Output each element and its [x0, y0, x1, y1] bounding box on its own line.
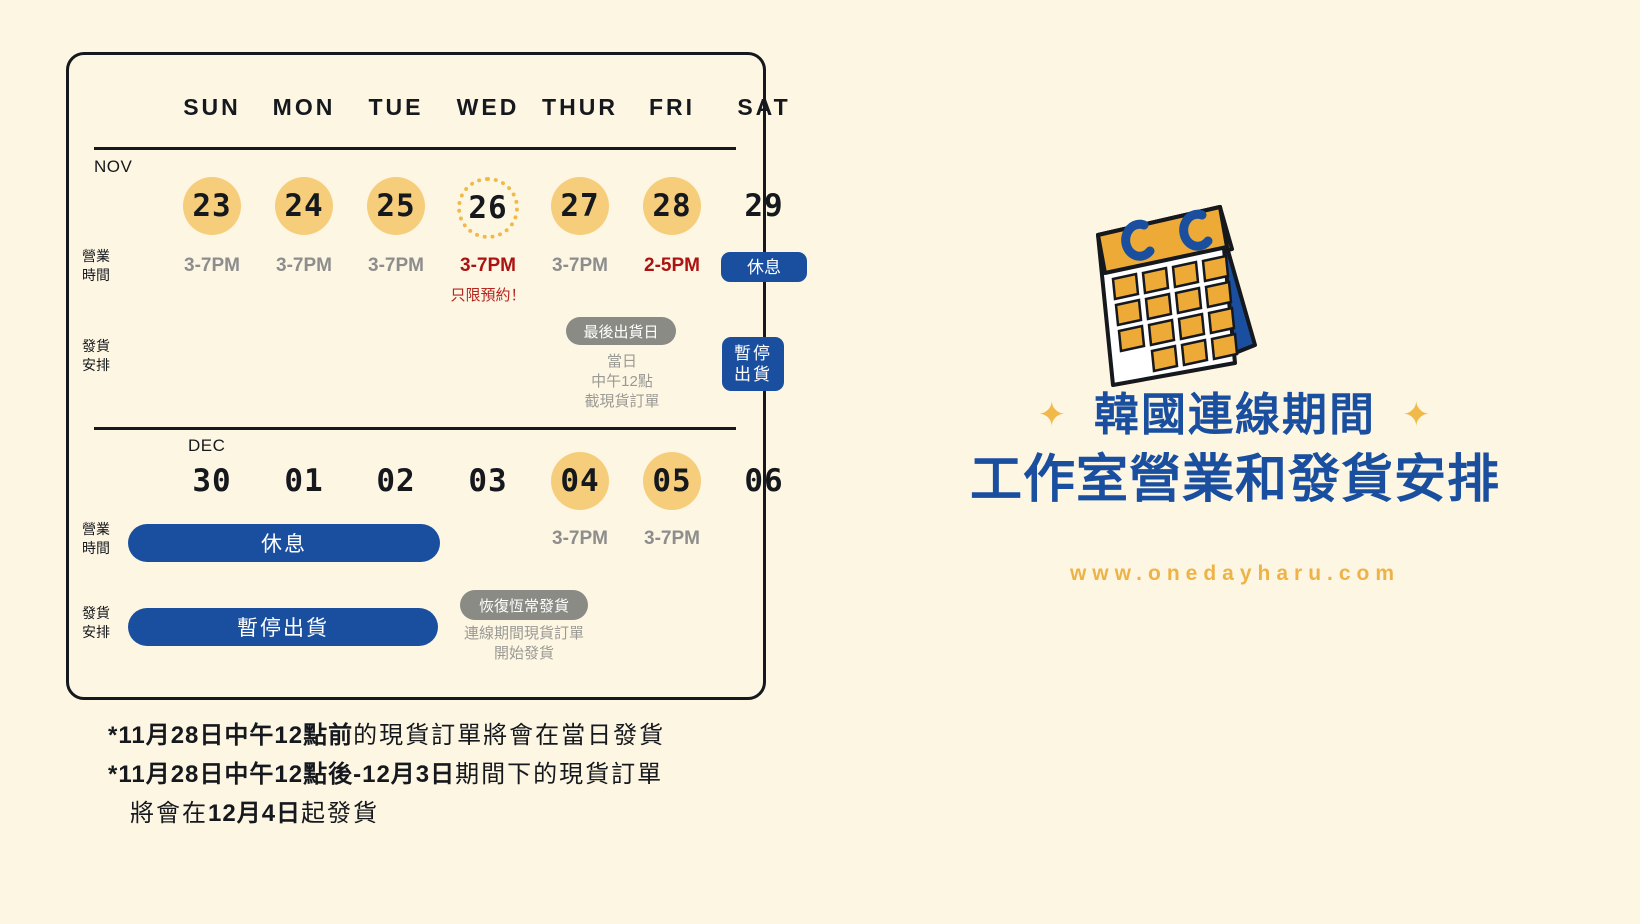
week-divider [94, 427, 736, 430]
bar-shipping-paused-nov30-dec03: 暫停出貨 [128, 608, 438, 646]
row-label-line2: 安排 [82, 623, 128, 642]
calendar-schedule: SUN MON TUE WED THUR FRI SAT NOV 23 24 2… [66, 52, 766, 700]
day-cell-nov-25: 25 [350, 177, 442, 235]
weekday-fri: FRI [626, 94, 718, 121]
badge-line2: 出貨 [734, 364, 772, 385]
day-number: 29 [735, 177, 793, 235]
weekday-sat: SAT [718, 94, 810, 121]
website-url[interactable]: www.onedayharu.com [830, 562, 1640, 586]
day-number: 25 [367, 177, 425, 235]
day-cell-nov-27: 27 [534, 177, 626, 235]
badge-shipping-resumed: 恢復恆常發貨 [460, 590, 588, 620]
note-line2: 中午12點 [552, 372, 692, 392]
hours-nov-28: 2-5PM [626, 255, 718, 277]
hours-nov-24: 3-7PM [258, 255, 350, 277]
day-cell-nov-23: 23 [166, 177, 258, 235]
day-number: 02 [367, 452, 425, 510]
footnote-1-rest: 的現貨訂單將會在當日發貨 [353, 722, 665, 749]
day-number: 23 [183, 177, 241, 235]
promo-title-line1: 韓國連線期間 [1094, 385, 1376, 445]
weekday-wed: WED [442, 94, 534, 121]
bar-closed-nov30-dec03: 休息 [128, 524, 440, 562]
note-shipping-resume-detail: 連線期間現貨訂單 開始發貨 [444, 624, 604, 664]
desk-calendar-icon [1080, 195, 1260, 385]
month-label-nov: NOV [94, 157, 132, 177]
day-number: 30 [183, 452, 241, 510]
day-cell-dec-02: 02 [350, 452, 442, 510]
badge-last-shipping-day: 最後出貨日 [566, 317, 676, 345]
row-label-shipping-w2: 發貨 安排 [82, 604, 128, 642]
note-line2: 開始發貨 [444, 644, 604, 664]
promo-title-line1-row: ✦ 韓國連線期間 ✦ [830, 385, 1640, 445]
footnote-line-1: *11月28日中午12點前的現貨訂單將會在當日發貨 [108, 716, 808, 755]
row-label-line1: 營業 [82, 247, 128, 266]
weekday-tue: TUE [350, 94, 442, 121]
day-cell-nov-30: 30 [166, 452, 258, 510]
day-number: 05 [643, 452, 701, 510]
day-cell-dec-04: 04 [534, 452, 626, 510]
hours-dec-05: 3-7PM [626, 528, 718, 550]
footnote-2-rest: 期間下的現貨訂單 [455, 761, 663, 788]
promo-panel: ✦ 韓國連線期間 ✦ 工作室營業和發貨安排 www.onedayharu.com [830, 0, 1640, 924]
header-divider [94, 147, 736, 150]
footnote-3-rest: 起發貨 [301, 800, 379, 827]
weekday-mon: MON [258, 94, 350, 121]
hours-nov-23: 3-7PM [166, 255, 258, 277]
footnote-1-bold: *11月28日中午12點前 [108, 722, 353, 749]
row-label-line1: 營業 [82, 520, 128, 539]
day-cell-dec-03: 03 [442, 452, 534, 510]
day-cell-dec-06: 06 [718, 452, 810, 510]
sparkle-right-icon: ✦ [1402, 398, 1433, 432]
row-label-business-hours-w2: 營業 時間 [82, 520, 128, 558]
day-cell-nov-29: 29 [718, 177, 810, 235]
sparkle-left-icon: ✦ [1037, 398, 1068, 432]
row-label-business-hours-w1: 營業 時間 [82, 247, 128, 285]
row-label-shipping-w1: 發貨 安排 [82, 337, 128, 375]
footnote-line-3: 將會在12月4日起發貨 [108, 794, 808, 833]
day-cell-nov-26: 26 [442, 177, 534, 239]
footnote-line-2: *11月28日中午12點後-12月3日期間下的現貨訂單 [108, 755, 808, 794]
badge-shipping-paused-nov-29: 暫停 出貨 [722, 337, 784, 391]
day-number: 03 [459, 452, 517, 510]
poster-canvas: SUN MON TUE WED THUR FRI SAT NOV 23 24 2… [0, 0, 1640, 924]
day-number: 28 [643, 177, 701, 235]
day-number: 06 [735, 452, 793, 510]
row-label-line1: 發貨 [82, 337, 128, 356]
badge-closed-nov-29: 休息 [721, 252, 807, 282]
day-cell-dec-01: 01 [258, 452, 350, 510]
day-number: 01 [275, 452, 333, 510]
row-label-line2: 時間 [82, 266, 128, 285]
day-cell-dec-05: 05 [626, 452, 718, 510]
day-number: 24 [275, 177, 333, 235]
note-last-shipping-detail: 當日 中午12點 截現貨訂單 [552, 352, 692, 412]
footnote-3-pre: 將會在 [130, 800, 208, 827]
hours-nov-25: 3-7PM [350, 255, 442, 277]
day-number: 27 [551, 177, 609, 235]
hours-nov-26: 3-7PM [442, 255, 534, 277]
footnotes-block: *11月28日中午12點前的現貨訂單將會在當日發貨 *11月28日中午12點後-… [108, 716, 808, 833]
hours-nov-27: 3-7PM [534, 255, 626, 277]
day-number: 04 [551, 452, 609, 510]
note-line3: 截現貨訂單 [552, 392, 692, 412]
badge-line1: 暫停 [734, 343, 772, 364]
day-cell-nov-24: 24 [258, 177, 350, 235]
promo-title-line2: 工作室營業和發貨安排 [830, 447, 1640, 513]
row-label-line2: 安排 [82, 356, 128, 375]
note-line1: 當日 [552, 352, 692, 372]
day-cell-nov-28: 28 [626, 177, 718, 235]
footnote-2-bold: *11月28日中午12點後-12月3日 [108, 761, 455, 788]
row-label-line1: 發貨 [82, 604, 128, 623]
row-label-line2: 時間 [82, 539, 128, 558]
footnote-3-bold: 12月4日 [208, 800, 301, 827]
day-number-dotted-highlight: 26 [457, 177, 519, 239]
weekday-sun: SUN [166, 94, 258, 121]
promo-title-block: ✦ 韓國連線期間 ✦ 工作室營業和發貨安排 [830, 385, 1640, 513]
note-line1: 連線期間現貨訂單 [444, 624, 604, 644]
weekday-thur: THUR [534, 94, 626, 121]
weekday-header-row: SUN MON TUE WED THUR FRI SAT [66, 94, 766, 134]
note-appointment-only-nov-26: 只限預約！ [418, 284, 558, 305]
hours-dec-04: 3-7PM [534, 528, 626, 550]
